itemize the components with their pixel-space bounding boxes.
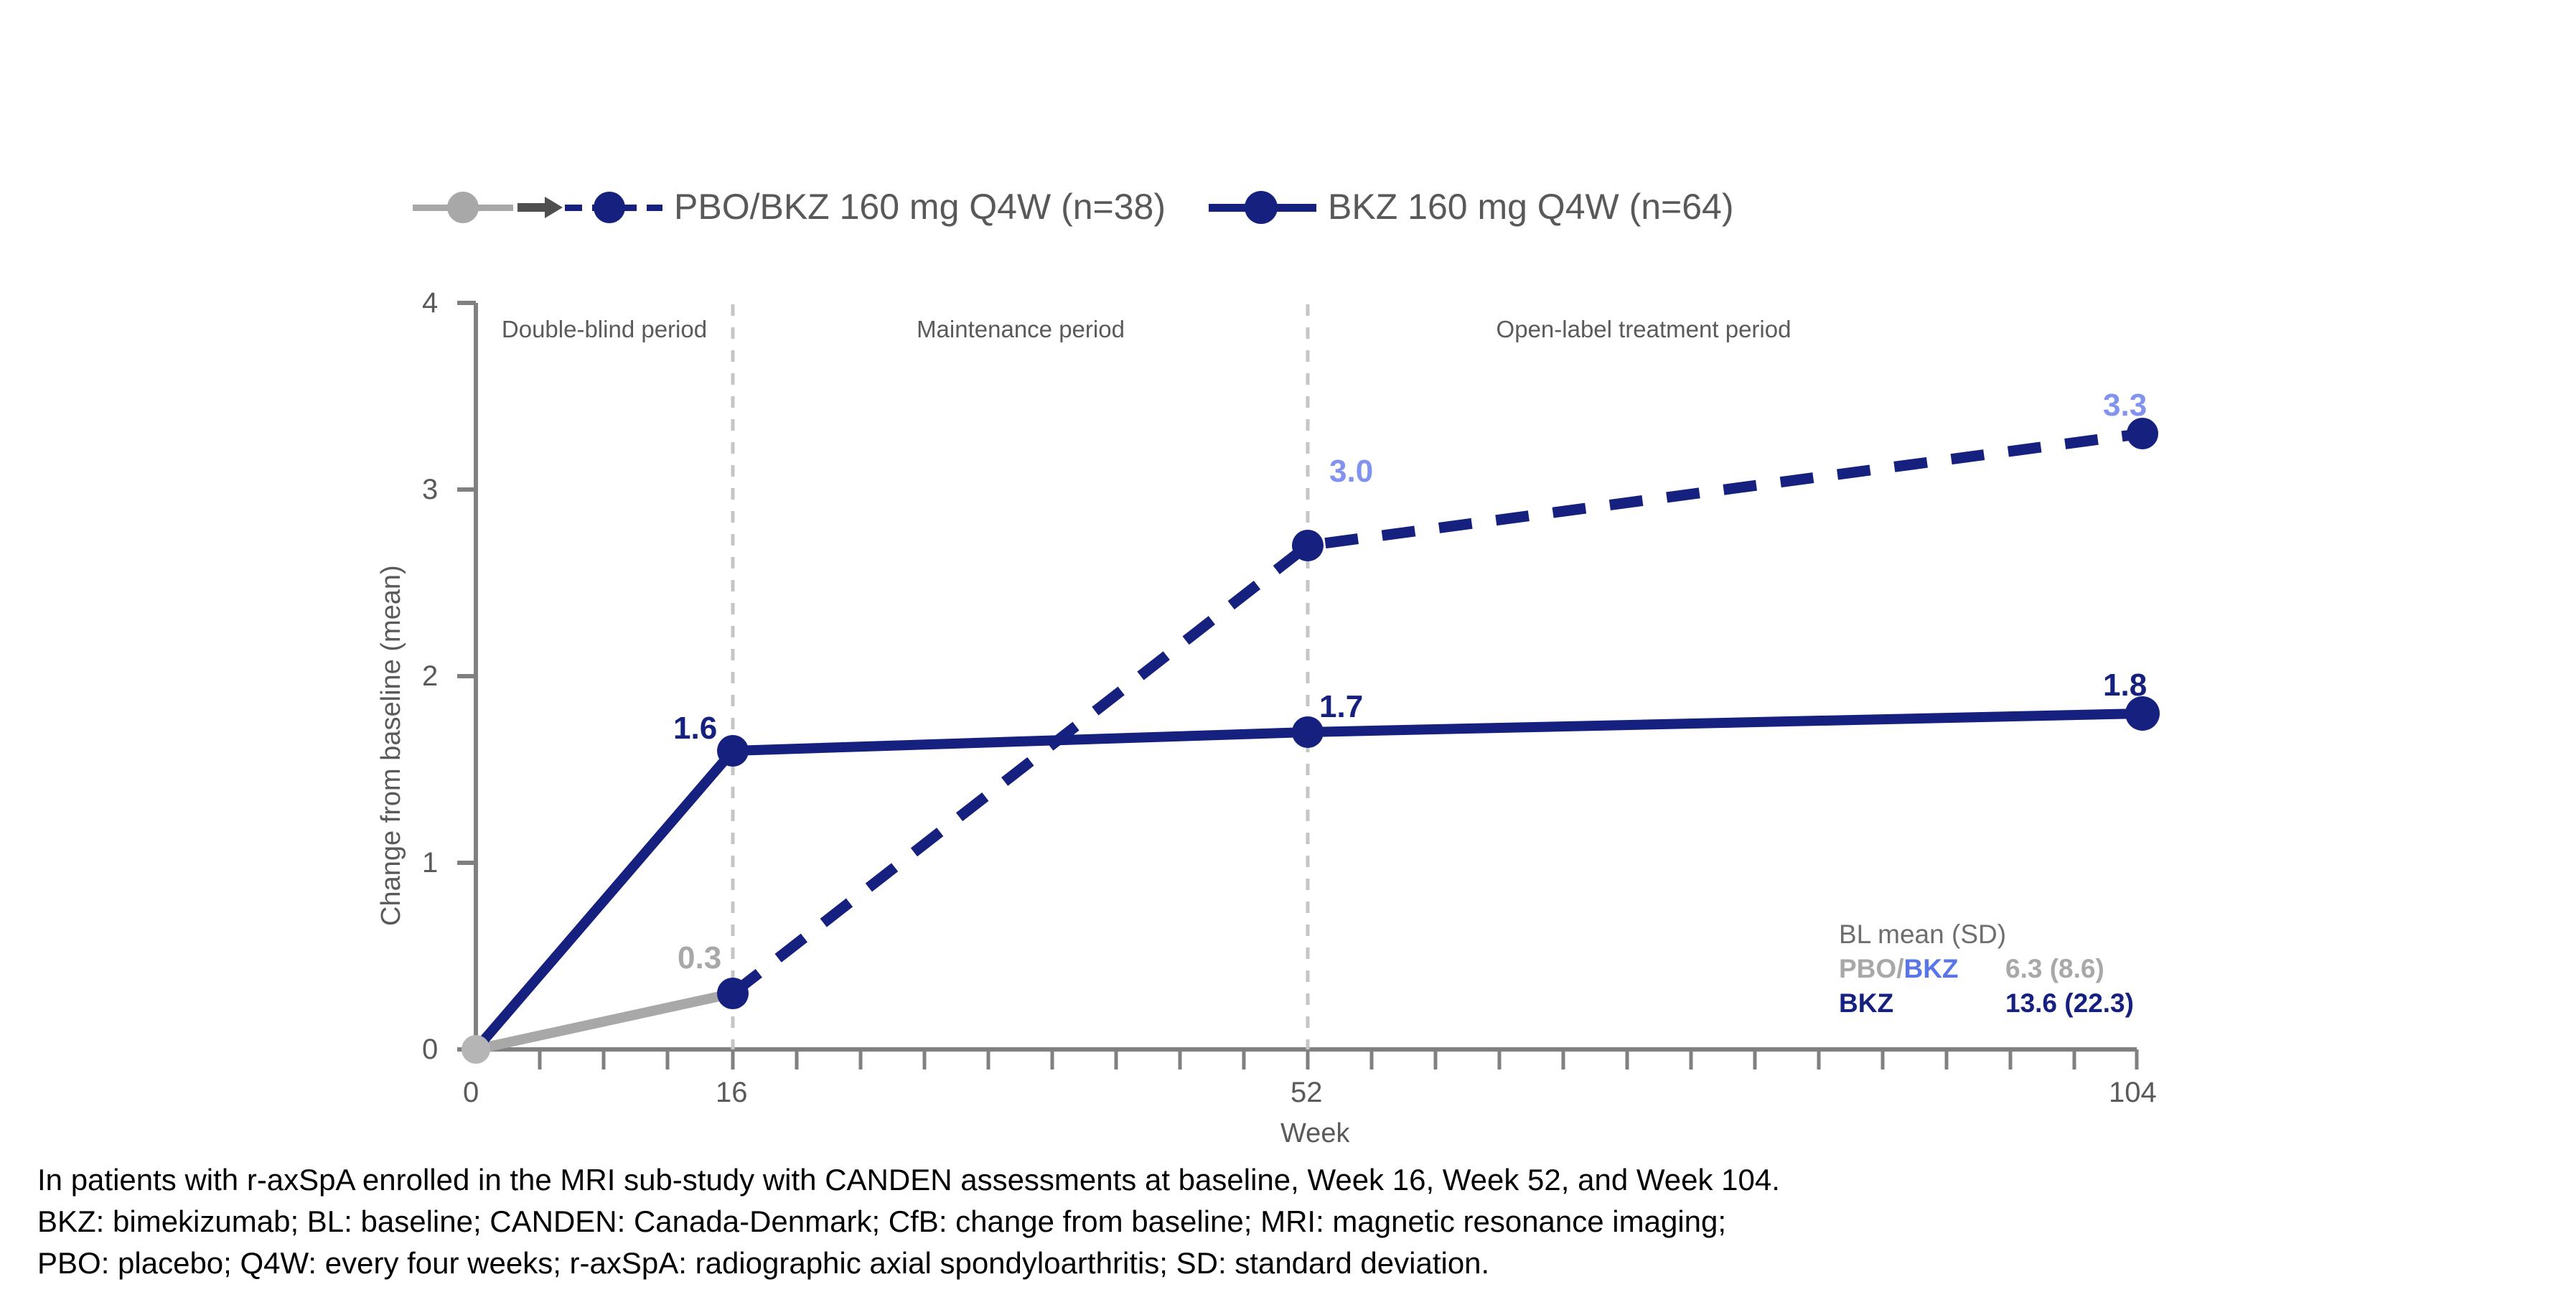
footnote-line-3: PBO: placebo; Q4W: every four weeks; r-a… — [37, 1243, 2535, 1284]
period-label-double-blind: Double-blind period — [490, 316, 718, 343]
x-tick-label-52: 52 — [1291, 1077, 1323, 1109]
y-tick-label-0: 0 — [422, 1034, 438, 1066]
bl-key-separator: / — [1896, 954, 1903, 983]
y-tick-label-2: 2 — [422, 660, 438, 693]
bl-mean-key-pbo-bkz: PBO/BKZ — [1839, 954, 2005, 984]
footnote-block: In patients with r-axSpA enrolled in the… — [37, 1159, 2535, 1284]
bl-mean-annotation: BL mean (SD) PBO/BKZ 6.3 (8.6) BKZ 13.6 … — [1839, 919, 2183, 1019]
bl-key-pbo: PBO — [1839, 954, 1896, 983]
plot-area — [0, 0, 2576, 1120]
x-tick-label-0: 0 — [463, 1077, 479, 1109]
data-label-pbo-w52: 3.0 — [1329, 454, 1373, 490]
bl-key-bkz: BKZ — [1903, 954, 1958, 983]
bl-mean-key-bkz: BKZ — [1839, 988, 2005, 1019]
x-axis-label: Week — [1280, 1118, 1349, 1149]
data-label-pbo-w104: 3.3 — [2103, 388, 2147, 423]
bl-mean-row-bkz: BKZ 13.6 (22.3) — [1839, 988, 2183, 1019]
bl-mean-value-bkz: 13.6 (22.3) — [2005, 988, 2134, 1019]
x-tick-label-16: 16 — [716, 1077, 748, 1109]
bl-mean-title: BL mean (SD) — [1839, 919, 2183, 950]
data-point-pbo-w16 — [717, 978, 749, 1009]
bl-mean-row-pbo-bkz: PBO/BKZ 6.3 (8.6) — [1839, 954, 2183, 984]
data-label-bkz-w52: 1.7 — [1319, 689, 1363, 725]
y-tick-label-1: 1 — [422, 847, 438, 879]
period-label-maintenance: Maintenance period — [907, 316, 1135, 343]
data-point-pbo-w0 — [462, 1035, 490, 1064]
x-tick-label-104: 104 — [2109, 1077, 2157, 1109]
y-tick-label-3: 3 — [422, 474, 438, 506]
data-label-pbo-w16: 0.3 — [678, 940, 721, 976]
y-axis-label: Change from baseline (mean) — [376, 565, 407, 926]
footnote-line-2: BKZ: bimekizumab; BL: baseline; CANDEN: … — [37, 1201, 2535, 1243]
data-label-bkz-w16: 1.6 — [673, 711, 717, 747]
line-chart: 4 3 2 1 0 Change from baseline (mean) 0 … — [0, 0, 2576, 1120]
data-point-pbo-w52 — [1292, 530, 1324, 561]
footnote-line-1: In patients with r-axSpA enrolled in the… — [37, 1159, 2535, 1201]
data-label-bkz-w104: 1.8 — [2103, 668, 2147, 703]
bl-mean-value-pbo-bkz: 6.3 (8.6) — [2005, 954, 2104, 984]
data-point-bkz-w16 — [717, 735, 749, 767]
period-label-open-label: Open-label treatment period — [1471, 316, 1816, 343]
x-minor-ticks — [540, 1049, 2137, 1070]
y-tick-label-4: 4 — [422, 287, 438, 319]
